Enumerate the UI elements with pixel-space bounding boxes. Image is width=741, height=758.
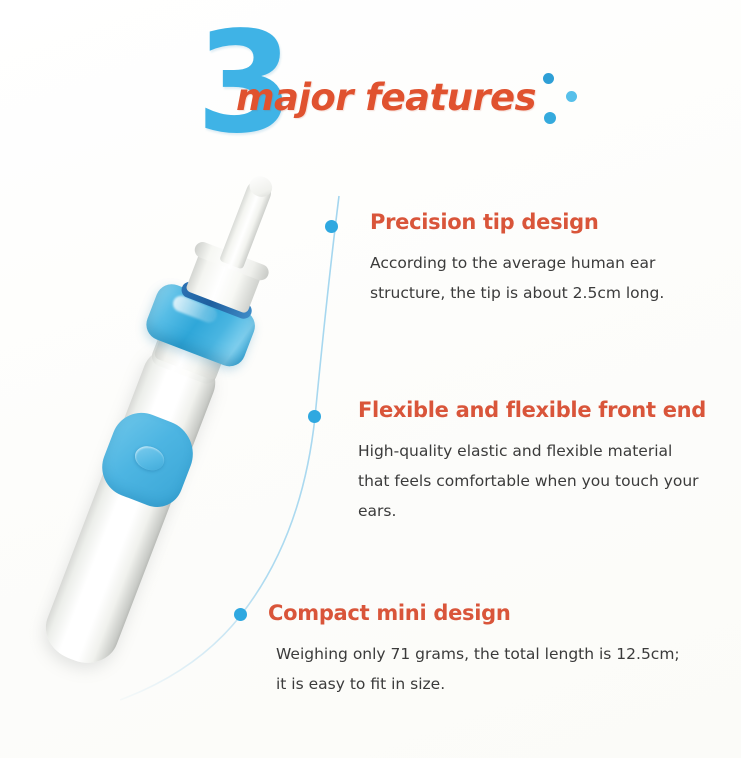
page-title: major features (236, 76, 536, 119)
feature-description: Weighing only 71 grams, the total length… (268, 639, 688, 699)
decorative-dot-icon (544, 112, 556, 124)
feature-title: Flexible and flexible front end (358, 398, 708, 422)
feature-description: According to the average human ear struc… (370, 248, 710, 308)
feature-title: Compact mini design (268, 601, 688, 625)
infographic-page: 3 major features (0, 0, 741, 758)
decorative-dot-icon (566, 91, 577, 102)
feature-marker-dot-1 (325, 220, 338, 233)
feature-marker-dot-2 (308, 410, 321, 423)
feature-marker-dot-3 (234, 608, 247, 621)
feature-block-compact-mini: Compact mini design Weighing only 71 gra… (268, 601, 688, 699)
feature-block-flexible-front-end: Flexible and flexible front end High-qua… (358, 398, 708, 527)
product-power-button (131, 442, 167, 474)
decorative-dot-icon (543, 73, 554, 84)
feature-title: Precision tip design (370, 210, 710, 234)
feature-description: High-quality elastic and flexible materi… (358, 436, 708, 527)
product-handle (37, 338, 224, 673)
feature-block-precision-tip: Precision tip design According to the av… (370, 210, 710, 308)
